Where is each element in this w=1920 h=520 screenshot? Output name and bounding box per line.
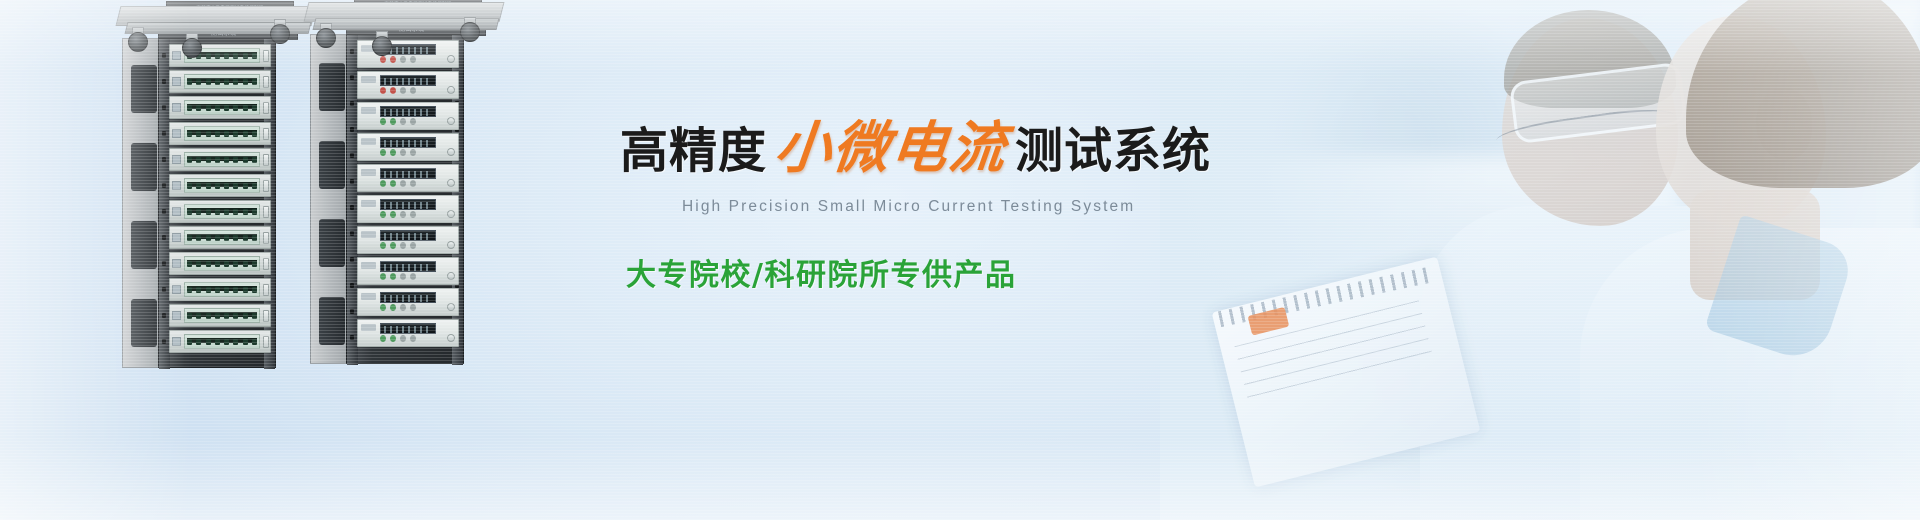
equipment-racks: LANG 测试系统: [0, 0, 520, 520]
headline-prefix: 高精度: [620, 127, 767, 175]
rack-module: [357, 195, 459, 223]
rack-module: [357, 226, 459, 254]
rack-module: [169, 96, 271, 119]
rack-module: [169, 226, 271, 249]
rack-module: [169, 148, 271, 171]
rack-module: [169, 304, 271, 327]
rack-module: [357, 71, 459, 99]
rack-module: [169, 70, 271, 93]
rack-module: [357, 133, 459, 161]
caster-wheel: [128, 30, 148, 52]
rack-module: [357, 164, 459, 192]
rack-right-module-stack: [357, 40, 459, 356]
rack-module: [169, 200, 271, 223]
rack-module: [357, 288, 459, 316]
caster-wheel: [270, 22, 290, 44]
rack-module: [357, 257, 459, 285]
caster-wheel: [316, 26, 336, 48]
caster-wheel: [372, 34, 392, 56]
caster-wheel: [460, 20, 480, 42]
product-banner: LANG 测试系统: [0, 0, 1920, 520]
green-tagline: 大专院校/科研院所专供产品: [626, 250, 1240, 294]
rack-module: [169, 252, 271, 275]
rack-module: [169, 278, 271, 301]
rack-module: [169, 174, 271, 197]
rack-module: [169, 330, 271, 353]
caster-wheel: [182, 36, 202, 58]
english-subtitle: High Precision Small Micro Current Testi…: [682, 198, 1240, 216]
banner-text-block: 高精度 小微电流 测试系统 High Precision Small Micro…: [620, 120, 1240, 294]
headline-highlight: 小微电流: [772, 120, 1010, 176]
rack-module: [357, 319, 459, 347]
headline-suffix: 测试系统: [1015, 127, 1211, 175]
rack-module: [169, 122, 271, 145]
rack-module: [357, 102, 459, 130]
rack-left-module-stack: [169, 44, 271, 360]
headline: 高精度 小微电流 测试系统: [620, 120, 1240, 176]
